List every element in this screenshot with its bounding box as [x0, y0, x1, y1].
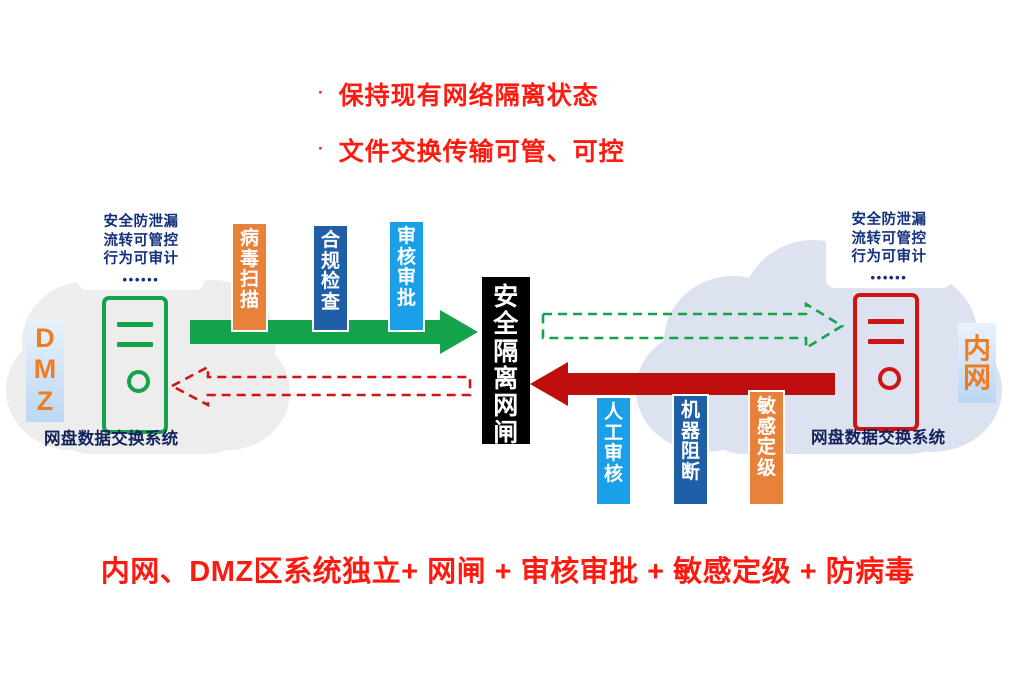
intranet-callout-line-1: 安全防泄漏 [852, 212, 927, 228]
intranet-char-2: 网 [963, 363, 991, 392]
tag-virus-scan-char-4: 描 [233, 291, 266, 312]
tag-compliance-char-4: 查 [314, 293, 347, 314]
bullet-text-2: 文件交换传输可管、可控 [339, 132, 625, 168]
dmz-node-caption: 网盘数据交换系统 [44, 425, 178, 449]
tag-manual-review: 人 工 审 核 [595, 396, 632, 506]
summary-footer-text: 内网、DMZ区系统独立+ 网闸 + 审核审批 + 敏感定级 + 防病毒 [0, 548, 1015, 590]
dmz-server-icon [102, 296, 168, 434]
intranet-server-icon [853, 293, 919, 431]
server-bar-2 [117, 342, 153, 347]
tag-virus-scan: 病 毒 扫 描 [231, 222, 268, 332]
gateway-char-5: 网 [482, 393, 530, 420]
bullet-text-1: 保持现有网络隔离状态 [339, 76, 599, 112]
dmz-callout-box: 安全防泄漏 流转可管控 行为可审计 •••••• [78, 206, 204, 290]
tag-review-char-3: 审 [390, 268, 423, 289]
tag-manual-review-char-4: 核 [597, 465, 630, 486]
tag-machine-block-char-2: 器 [674, 422, 707, 443]
intranet-callout-line-2: 流转可管控 [852, 231, 927, 247]
tag-virus-scan-char-1: 病 [233, 229, 266, 250]
tag-sensitivity-char-1: 敏 [750, 397, 783, 418]
tag-virus-scan-char-3: 扫 [233, 270, 266, 291]
gateway-char-3: 隔 [482, 339, 530, 366]
dmz-letter-m: M [34, 354, 57, 386]
dmz-letter-d: D [35, 323, 55, 355]
bullet-item-1: · 保持现有网络隔离状态 [318, 76, 818, 112]
tag-machine-block-char-4: 断 [674, 463, 707, 484]
server-power-icon [127, 370, 150, 393]
intranet-callout-dots-icon: •••••• [835, 271, 943, 284]
dmz-callout-dots-icon: •••••• [87, 273, 195, 286]
server-bar-1 [117, 322, 153, 327]
dmz-callout-line-1: 安全防泄漏 [104, 214, 179, 230]
tag-compliance-char-1: 合 [314, 231, 347, 252]
tag-review-char-1: 审 [390, 227, 423, 248]
bullet-item-2: · 文件交换传输可管、可控 [318, 132, 818, 168]
intranet-callout-line-3: 行为可审计 [852, 249, 927, 265]
tag-review-approval: 审 核 审 批 [388, 220, 425, 332]
gateway-char-4: 离 [482, 366, 530, 393]
tag-manual-review-char-2: 工 [597, 424, 630, 445]
tag-machine-block: 机 器 阻 断 [672, 394, 709, 506]
dmz-letter-z: Z [37, 386, 54, 418]
diagram-canvas: · 保持现有网络隔离状态 · 文件交换传输可管、可控 安全防泄漏 流转可管控 行… [0, 0, 1015, 675]
tag-sensitivity-grading: 敏 感 定 级 [748, 390, 785, 506]
tag-machine-block-char-3: 阻 [674, 442, 707, 463]
tag-sensitivity-char-4: 级 [750, 459, 783, 480]
tag-manual-review-char-3: 审 [597, 444, 630, 465]
tag-sensitivity-char-3: 定 [750, 438, 783, 459]
tag-review-char-4: 批 [390, 289, 423, 310]
bullet-list: · 保持现有网络隔离状态 · 文件交换传输可管、可控 [318, 76, 818, 188]
gateway-char-2: 全 [482, 311, 530, 338]
bullet-marker-icon: · [318, 140, 325, 157]
intranet-zone-label: 内 网 [958, 323, 996, 403]
intranet-callout-box: 安全防泄漏 流转可管控 行为可审计 •••••• [826, 204, 952, 288]
server-bar-1 [868, 319, 904, 324]
tag-manual-review-char-1: 人 [597, 403, 630, 424]
server-power-icon [878, 367, 901, 390]
tag-virus-scan-char-2: 毒 [233, 250, 266, 271]
tag-compliance-char-3: 检 [314, 272, 347, 293]
tag-machine-block-char-1: 机 [674, 401, 707, 422]
dmz-zone-label: D M Z [26, 318, 64, 422]
tag-compliance-char-2: 规 [314, 252, 347, 273]
intranet-char-1: 内 [963, 334, 991, 363]
bullet-marker-icon: · [318, 84, 325, 101]
dmz-callout-line-2: 流转可管控 [104, 233, 179, 249]
intranet-node-caption: 网盘数据交换系统 [811, 424, 945, 448]
tag-review-char-2: 核 [390, 248, 423, 269]
gateway-char-6: 闸 [482, 420, 530, 447]
gateway-char-1: 安 [482, 284, 530, 311]
security-gateway-box: 安 全 隔 离 网 闸 [482, 277, 530, 444]
dmz-callout-line-3: 行为可审计 [104, 251, 179, 267]
tag-sensitivity-char-2: 感 [750, 418, 783, 439]
server-bar-2 [868, 339, 904, 344]
tag-compliance-check: 合 规 检 查 [312, 224, 349, 332]
